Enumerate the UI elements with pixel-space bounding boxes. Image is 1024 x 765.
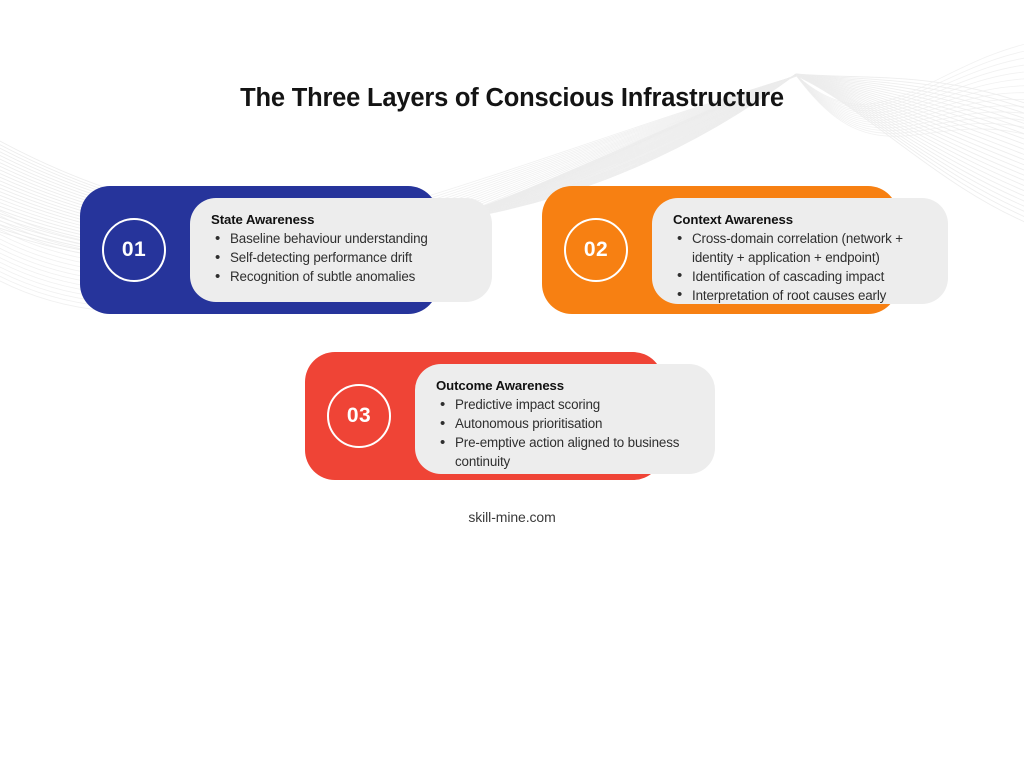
card-2-number-badge: 02 [564, 218, 628, 282]
infographic-canvas: The Three Layers of Conscious Infrastruc… [0, 0, 1024, 576]
list-item: Identification of cascading impact [673, 268, 932, 287]
card-1-number: 01 [122, 238, 146, 262]
list-item: Baseline behaviour understanding [211, 230, 476, 249]
list-item: Recognition of subtle anomalies [211, 268, 476, 287]
card-2-heading: Context Awareness [673, 212, 932, 227]
layer-card-1: 01 State Awareness Baseline behaviour un… [80, 186, 438, 314]
card-1-number-badge: 01 [102, 218, 166, 282]
list-item: Pre-emptive action aligned to business c… [436, 434, 699, 471]
card-3-connector [389, 754, 415, 765]
card-1-heading: State Awareness [211, 212, 476, 227]
card-2-number: 02 [584, 238, 608, 262]
layer-card-2: 02 Context Awareness Cross-domain correl… [542, 186, 898, 314]
card-1-connector [164, 422, 190, 433]
card-1-bullet-list: Baseline behaviour understanding Self-de… [211, 230, 476, 287]
card-3-number: 03 [347, 404, 371, 428]
card-3-number-badge: 03 [327, 384, 391, 448]
list-item: Interpretation of root causes early [673, 287, 932, 306]
layer-card-3: 03 Outcome Awareness Predictive impact s… [305, 352, 663, 480]
page-title: The Three Layers of Conscious Infrastruc… [0, 84, 1024, 113]
list-item: Autonomous prioritisation [436, 415, 699, 434]
list-item: Predictive impact scoring [436, 396, 699, 415]
list-item: Cross-domain correlation (network + iden… [673, 230, 932, 267]
card-3-panel: Outcome Awareness Predictive impact scor… [415, 364, 715, 474]
card-2-panel: Context Awareness Cross-domain correlati… [652, 198, 948, 304]
footer-url: skill-mine.com [0, 509, 1024, 525]
card-3-bullet-list: Predictive impact scoring Autonomous pri… [436, 396, 699, 471]
card-3-heading: Outcome Awareness [436, 378, 699, 393]
list-item: Self-detecting performance drift [211, 249, 476, 268]
card-2-bullet-list: Cross-domain correlation (network + iden… [673, 230, 932, 305]
card-1-panel: State Awareness Baseline behaviour under… [190, 198, 492, 302]
